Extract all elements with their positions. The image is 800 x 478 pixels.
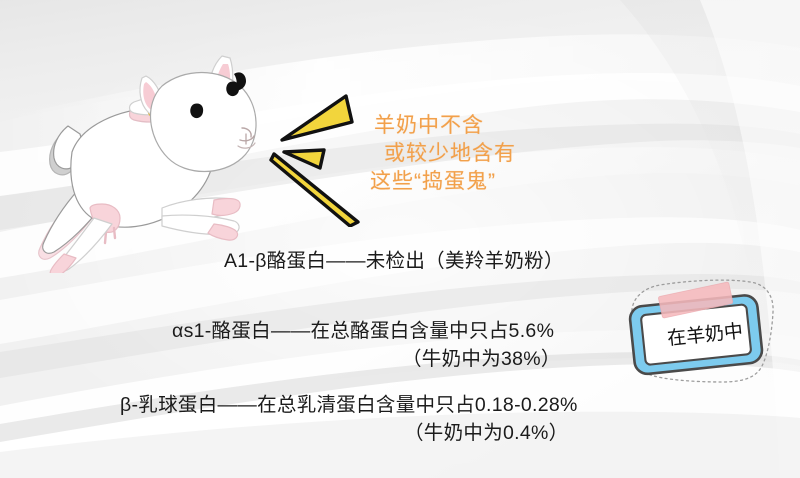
- headline-block: 羊奶中不含 或较少地含有 这些“捣蛋鬼”: [370, 112, 630, 196]
- poster-canvas: 羊奶中不含 或较少地含有 这些“捣蛋鬼” A1-β酪蛋白——未检出（美羚羊奶粉）…: [0, 0, 800, 478]
- statement-alpha-s1-casein: αs1-酪蛋白——在总酪蛋白含量中只占5.6%: [172, 316, 554, 346]
- statement-beta-lactoglobulin: β-乳球蛋白——在总乳清蛋白含量中只占0.18-0.28%: [120, 390, 578, 420]
- headline-line-1: 羊奶中不含: [370, 112, 630, 140]
- statement-a1-beta-casein: A1-β酪蛋白——未检出（美羚羊奶粉）: [224, 246, 564, 276]
- statement-beta-lactoglobulin-note: （牛奶中为0.4%）: [404, 418, 568, 448]
- sticky-note: 在羊奶中: [618, 276, 788, 388]
- yellow-burst-icon: [258, 82, 378, 227]
- goat-illustration: [34, 48, 284, 273]
- headline-line-2: 或较少地含有: [370, 140, 630, 168]
- statement-alpha-s1-casein-note: （牛奶中为38%）: [402, 344, 561, 374]
- headline-line-3: 这些“捣蛋鬼”: [370, 168, 630, 196]
- yellow-burst-group: [258, 82, 378, 227]
- goat-icon: [34, 48, 284, 273]
